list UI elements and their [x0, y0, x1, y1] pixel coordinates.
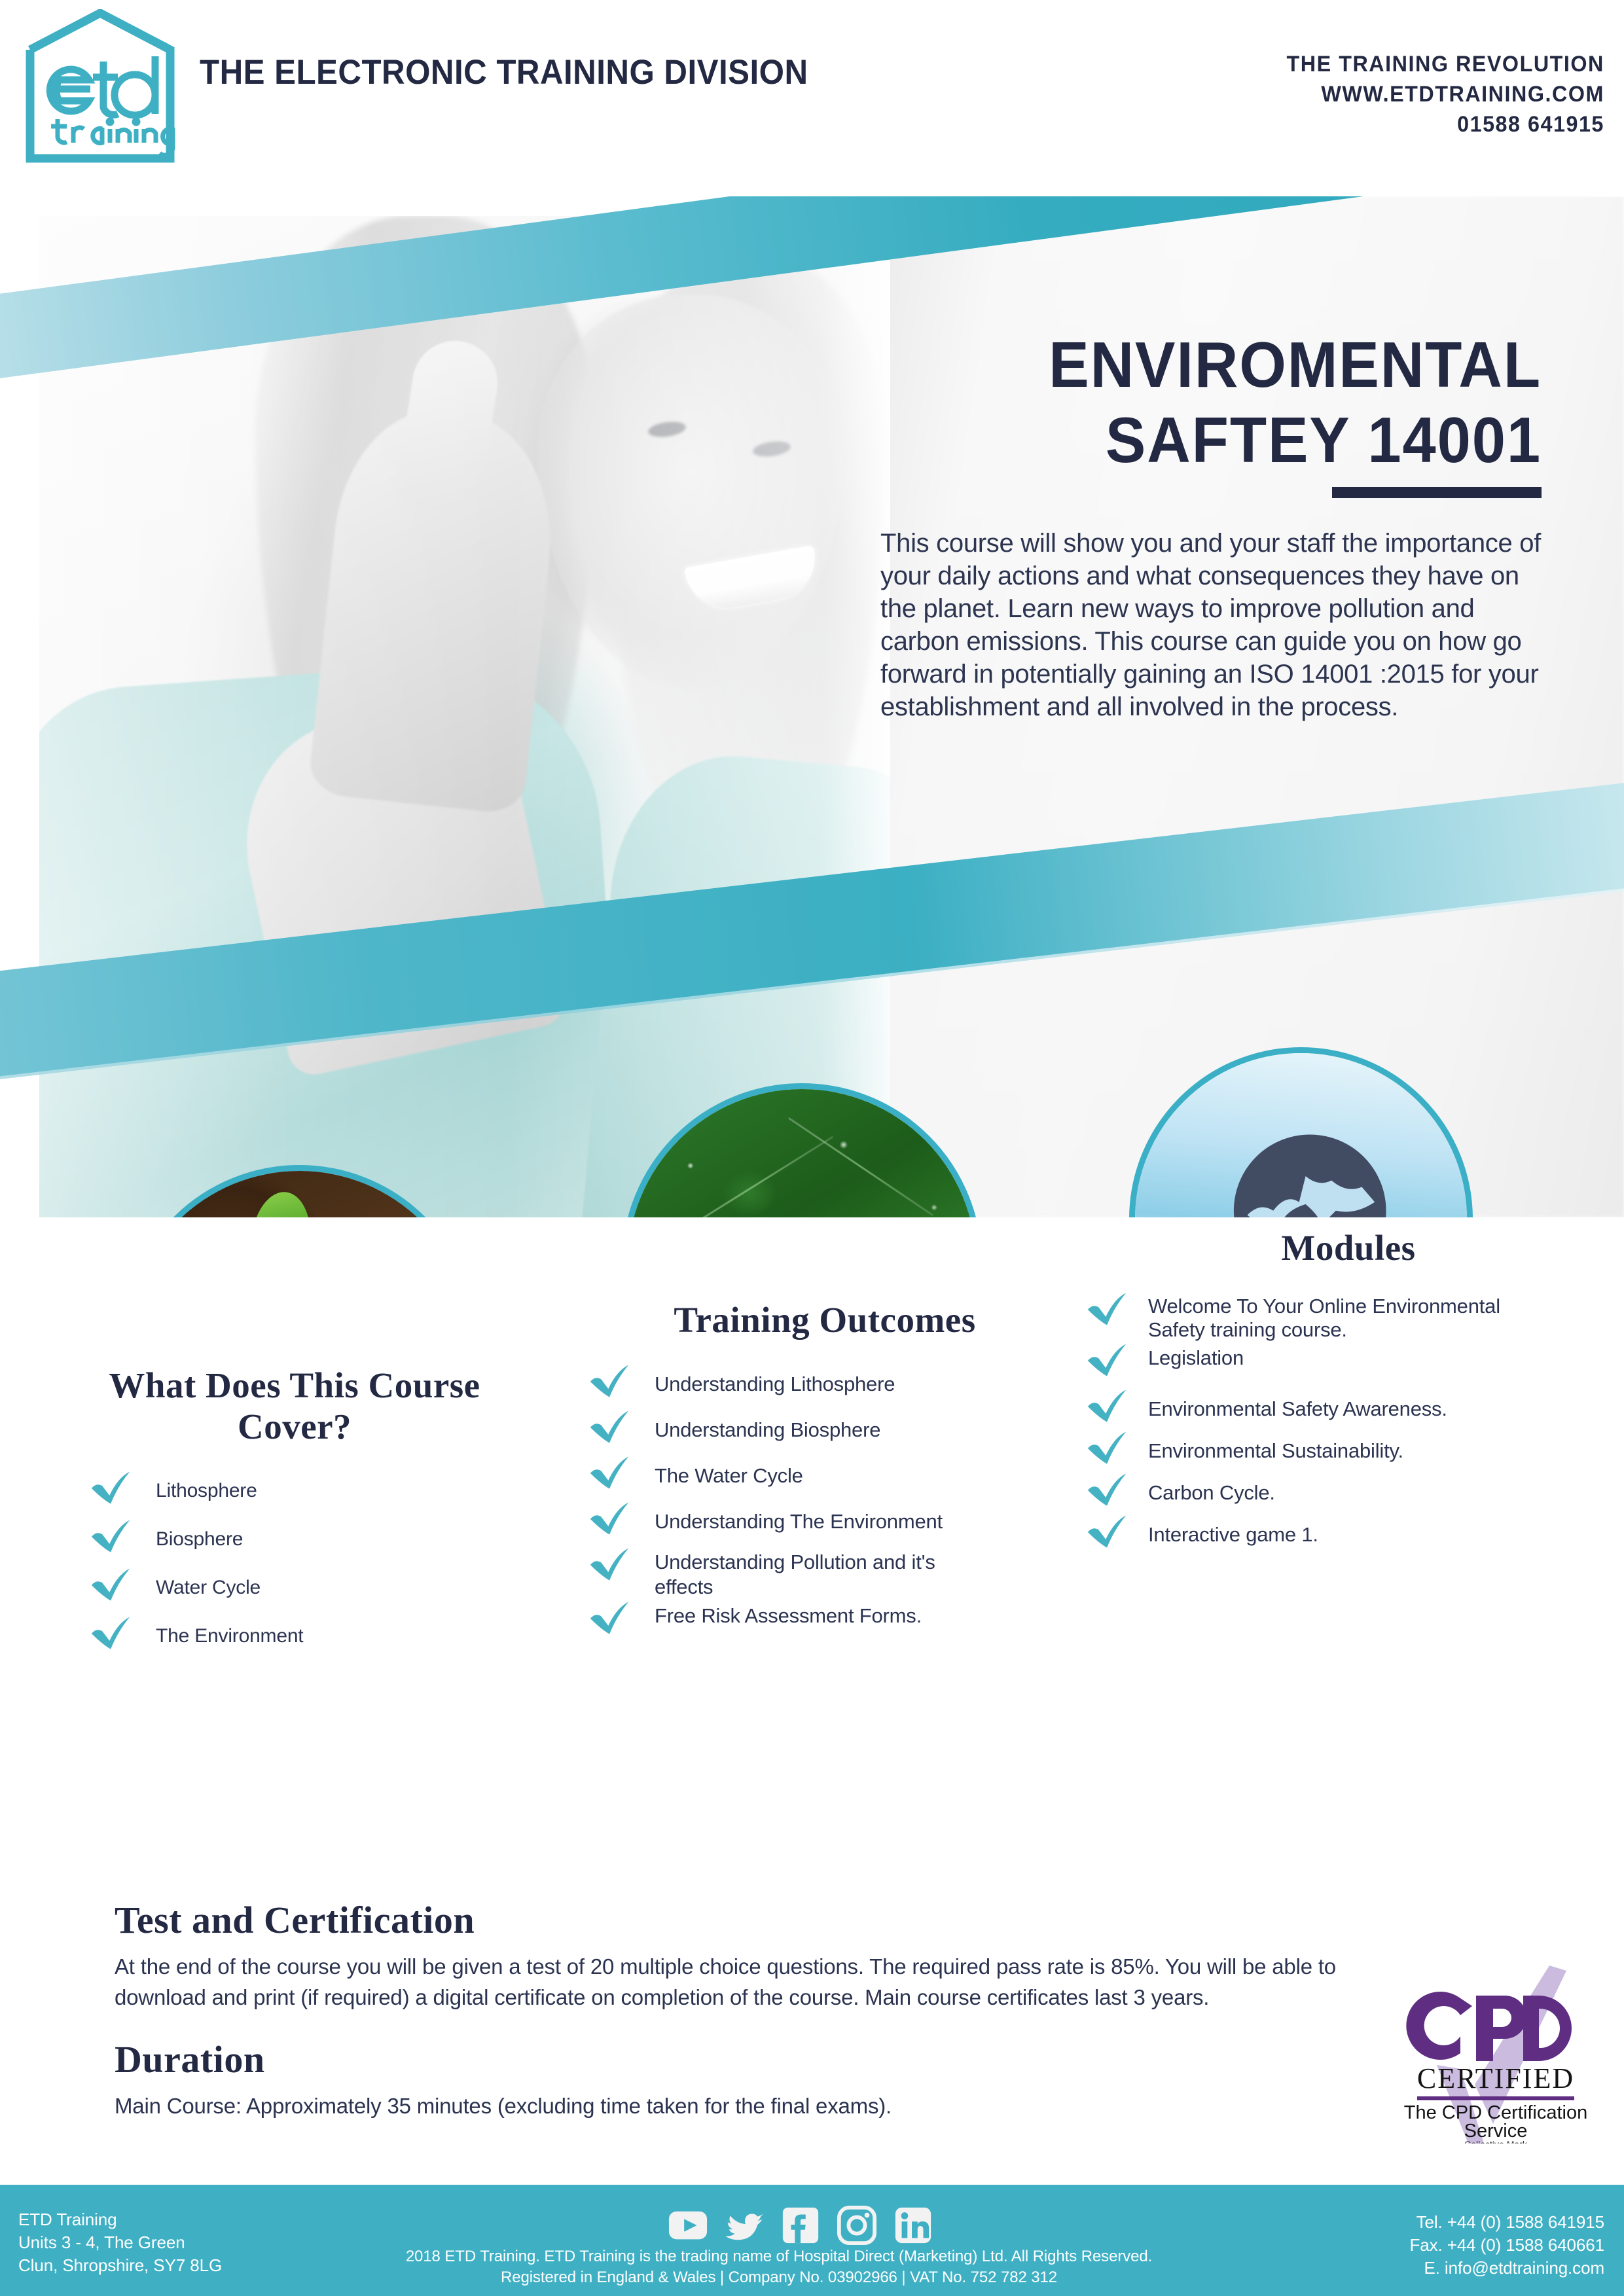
list-item-label: Legislation — [1148, 1342, 1244, 1371]
check-icon — [90, 1469, 132, 1506]
check-icon — [90, 1566, 132, 1603]
linkedin-icon[interactable] — [893, 2205, 933, 2246]
heading-test-certification: Test and Certification — [115, 1898, 1398, 1942]
hero-photo-woman-thumbs-up — [39, 216, 890, 1217]
column-training-outcomes: Training Outcomes Understanding Lithosph… — [589, 1299, 1060, 1636]
checklist-modules: Welcome To Your Online Environmental Saf… — [1087, 1291, 1610, 1550]
check-icon — [1087, 1388, 1128, 1424]
list-item: Biosphere — [79, 1518, 511, 1554]
svg-text:Collective Mark: Collective Mark — [1464, 2139, 1528, 2144]
check-icon — [1087, 1429, 1128, 1466]
footer-address: ETD Training Units 3 - 4, The Green Clun… — [18, 2208, 222, 2277]
footer-address-line1: ETD Training — [18, 2208, 222, 2231]
list-item-label: Interactive game 1. — [1148, 1513, 1318, 1547]
facebook-icon[interactable] — [780, 2205, 821, 2246]
list-item: Water Cycle — [79, 1566, 511, 1603]
column-modules: Modules Welcome To Your Online Environme… — [1087, 1227, 1610, 1555]
list-item-label: Environmental Safety Awareness. — [1148, 1388, 1447, 1422]
footer-fax: Fax. +44 (0) 1588 640661 — [1409, 2234, 1604, 2257]
header-website[interactable]: WWW.ETDTRAINING.COM — [1287, 79, 1604, 109]
check-icon — [589, 1546, 631, 1583]
column-heading-outcomes: Training Outcomes — [589, 1299, 1060, 1340]
footer-legal: 2018 ETD Training. ETD Training is the t… — [314, 2246, 1244, 2288]
checklist-outcomes: Understanding Lithosphere Understanding … — [589, 1363, 1060, 1636]
list-item: The Water Cycle — [589, 1454, 1060, 1491]
list-item-label: Carbon Cycle. — [1148, 1471, 1275, 1505]
cpd-certified-logo: CERTIFIED The CPD Certification Service … — [1398, 1954, 1594, 2144]
list-item-label: Free Risk Assessment Forms. — [655, 1600, 922, 1628]
check-icon — [589, 1408, 631, 1445]
course-flyer-page: THE ELECTRONIC TRAINING DIVISION THE TRA… — [0, 0, 1624, 2296]
course-title-block: ENVIROMENTAL SAFTEY 14001 This course wi… — [880, 327, 1542, 723]
circle-image-seedling — [121, 1165, 478, 1217]
header-phone[interactable]: 01588 641915 — [1287, 109, 1604, 139]
list-item: Environmental Safety Awareness. — [1087, 1388, 1610, 1424]
check-icon — [589, 1500, 631, 1537]
title-underline-rule — [1332, 487, 1542, 498]
footer-tel[interactable]: Tel. +44 (0) 1588 641915 — [1409, 2211, 1604, 2234]
list-item: Lithosphere — [79, 1469, 511, 1506]
column-heading-cover: What Does This Course Cover? — [79, 1365, 511, 1447]
footer-social-links — [668, 2204, 956, 2246]
list-item: Legislation — [1087, 1342, 1610, 1378]
list-item-label: Biosphere — [156, 1518, 243, 1552]
circle-icon-globe-leaf — [1129, 1047, 1473, 1217]
list-item-label: Lithosphere — [156, 1469, 257, 1503]
list-item-label: The Water Cycle — [655, 1454, 803, 1488]
list-item: Understanding The Environment — [589, 1500, 1060, 1537]
footer-legal-line1: 2018 ETD Training. ETD Training is the t… — [314, 2246, 1244, 2267]
header-contact-block: THE TRAINING REVOLUTION WWW.ETDTRAINING.… — [1287, 49, 1604, 139]
footer-address-line2: Units 3 - 4, The Green — [18, 2231, 222, 2254]
check-icon — [90, 1615, 132, 1651]
check-icon — [589, 1454, 631, 1491]
svg-text:CERTIFIED: CERTIFIED — [1417, 2062, 1574, 2094]
check-icon — [1087, 1513, 1128, 1550]
list-item: Carbon Cycle. — [1087, 1471, 1610, 1508]
instagram-icon[interactable] — [837, 2205, 877, 2246]
list-item: Welcome To Your Online Environmental Saf… — [1087, 1291, 1610, 1342]
hero-section: ENVIROMENTAL SAFTEY 14001 This course wi… — [0, 196, 1624, 1217]
footer-contact: Tel. +44 (0) 1588 641915 Fax. +44 (0) 15… — [1409, 2211, 1604, 2280]
twitter-icon[interactable] — [724, 2205, 765, 2246]
etd-training-logo — [18, 9, 182, 170]
course-title-line1: ENVIROMENTAL — [920, 327, 1542, 403]
course-title-line2: SAFTEY 14001 — [920, 403, 1542, 478]
check-icon — [1087, 1471, 1128, 1508]
list-item-label: Understanding Lithosphere — [655, 1363, 895, 1397]
list-item-label: Understanding Biosphere — [655, 1408, 880, 1443]
circle-image-dew-leaf — [622, 1083, 982, 1217]
list-item: Interactive game 1. — [1087, 1513, 1610, 1550]
list-item: The Environment — [79, 1615, 511, 1651]
page-header: THE ELECTRONIC TRAINING DIVISION THE TRA… — [0, 0, 1624, 196]
list-item: Environmental Sustainability. — [1087, 1429, 1610, 1466]
footer-email[interactable]: E. info@etdtraining.com — [1409, 2257, 1604, 2280]
check-icon — [1087, 1342, 1128, 1378]
list-item-label: Understanding Pollution and it's effects — [655, 1546, 936, 1600]
company-title: THE ELECTRONIC TRAINING DIVISION — [200, 52, 808, 92]
check-icon — [90, 1518, 132, 1554]
footer-legal-line2: Registered in England & Wales | Company … — [314, 2267, 1244, 2288]
check-icon — [589, 1600, 631, 1636]
list-item-label: Water Cycle — [156, 1566, 261, 1600]
course-description: This course will show you and your staff… — [880, 527, 1542, 723]
youtube-icon[interactable] — [668, 2205, 708, 2246]
list-item-label: The Environment — [156, 1615, 303, 1649]
checklist-cover: Lithosphere Biosphere Water Cycle The En… — [79, 1469, 511, 1651]
body-test-certification: At the end of the course you will be giv… — [115, 1951, 1398, 2013]
list-item-label: Environmental Sustainability. — [1148, 1429, 1403, 1463]
list-item-label: Understanding The Environment — [655, 1500, 943, 1534]
footer-address-line3: Clun, Shropshire, SY7 8LG — [18, 2254, 222, 2277]
list-item-label: Welcome To Your Online Environmental Saf… — [1148, 1291, 1541, 1342]
check-icon — [1087, 1291, 1128, 1327]
list-item: Understanding Pollution and it's effects — [589, 1546, 1060, 1600]
bottom-info-section: Test and Certification At the end of the… — [115, 1898, 1398, 2121]
list-item: Understanding Biosphere — [589, 1408, 1060, 1445]
heading-duration: Duration — [115, 2037, 1398, 2081]
column-heading-modules: Modules — [1087, 1227, 1610, 1268]
header-tagline: THE TRAINING REVOLUTION — [1287, 49, 1604, 79]
list-item: Understanding Lithosphere — [589, 1363, 1060, 1399]
list-item: Free Risk Assessment Forms. — [589, 1600, 1060, 1636]
check-icon — [589, 1363, 631, 1399]
column-course-cover: What Does This Course Cover? Lithosphere… — [79, 1365, 511, 1663]
body-duration: Main Course: Approximately 35 minutes (e… — [115, 2090, 1398, 2121]
globe-leaf-icon — [1193, 1111, 1409, 1218]
